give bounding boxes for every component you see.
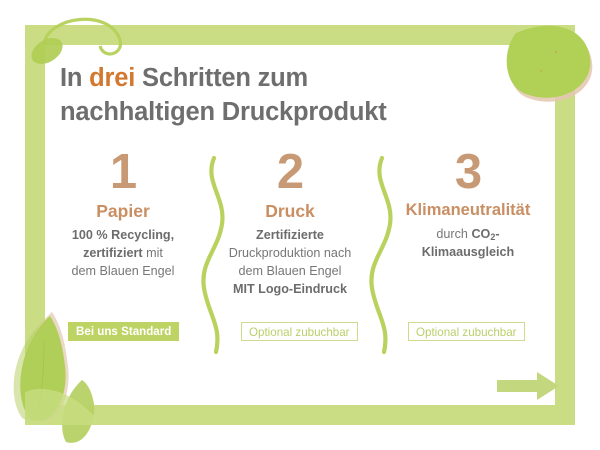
step2-line2: Druckproduktion nach — [229, 246, 352, 260]
step-title-3: Klimaneutralität — [406, 201, 531, 220]
step2-line1: Zertifizierte — [256, 228, 324, 242]
leaf-wash — [25, 389, 96, 425]
leaf-top-right-icon — [507, 26, 593, 102]
step-number-1: 1 — [110, 150, 136, 195]
badge-step-3[interactable]: Optional zubuchbar — [408, 322, 525, 341]
step3-co-text: CO — [471, 227, 490, 241]
step-column-2: 2 Druck Zertifizierte Druckproduktion na… — [201, 150, 379, 299]
badge-step-1[interactable]: Bei uns Standard — [68, 322, 179, 341]
step1-line2-bold: zertifiziert — [83, 246, 142, 260]
step3-co2: CO2- — [471, 227, 499, 241]
badges-row: Bei uns Standard Optional zubuchbar Opti… — [45, 322, 557, 348]
page-title: In drei Schritten zum nachhaltigen Druck… — [60, 62, 490, 130]
headline-post: Schritten zum — [135, 64, 308, 92]
step-description-3: durch CO2- Klimaausgleich — [422, 226, 514, 262]
step2-line4: MIT Logo-Eindruck — [233, 282, 347, 296]
step2-line3: dem Blauen Engel — [239, 264, 342, 278]
step1-line2-rest: mit — [143, 246, 163, 260]
step-number-2: 2 — [277, 150, 303, 195]
headline-line-2: nachhaltigen Druckprodukt — [60, 98, 387, 126]
badge-step-2[interactable]: Optional zubuchbar — [241, 322, 358, 341]
step-description-1: 100 % Recycling, zertifiziert mit dem Bl… — [72, 227, 175, 281]
step-title-1: Papier — [96, 201, 150, 221]
headline-pre: In — [60, 64, 89, 92]
step1-line3: dem Blauen Engel — [72, 264, 175, 278]
infographic-canvas: In drei Schritten zum nachhaltigen Druck… — [0, 0, 600, 450]
step-description-2: Zertifizierte Druckproduktion nach dem B… — [229, 227, 352, 299]
step-title-2: Druck — [265, 201, 315, 221]
step-number-3: 3 — [455, 150, 481, 195]
headline-accent: drei — [89, 64, 135, 92]
step1-line1: 100 % Recycling, — [72, 228, 174, 242]
step3-line1-pre: durch — [436, 227, 471, 241]
step-column-3: 3 Klimaneutralität durch CO2- Klimaausgl… — [379, 150, 557, 262]
headline-line-1: In drei Schritten zum — [60, 64, 308, 92]
arrow-right-icon — [497, 372, 559, 400]
step-column-1: 1 Papier 100 % Recycling, zertifiziert m… — [45, 150, 201, 281]
step3-line2: Klimaausgleich — [422, 245, 514, 259]
step3-hyphen: - — [495, 227, 499, 241]
